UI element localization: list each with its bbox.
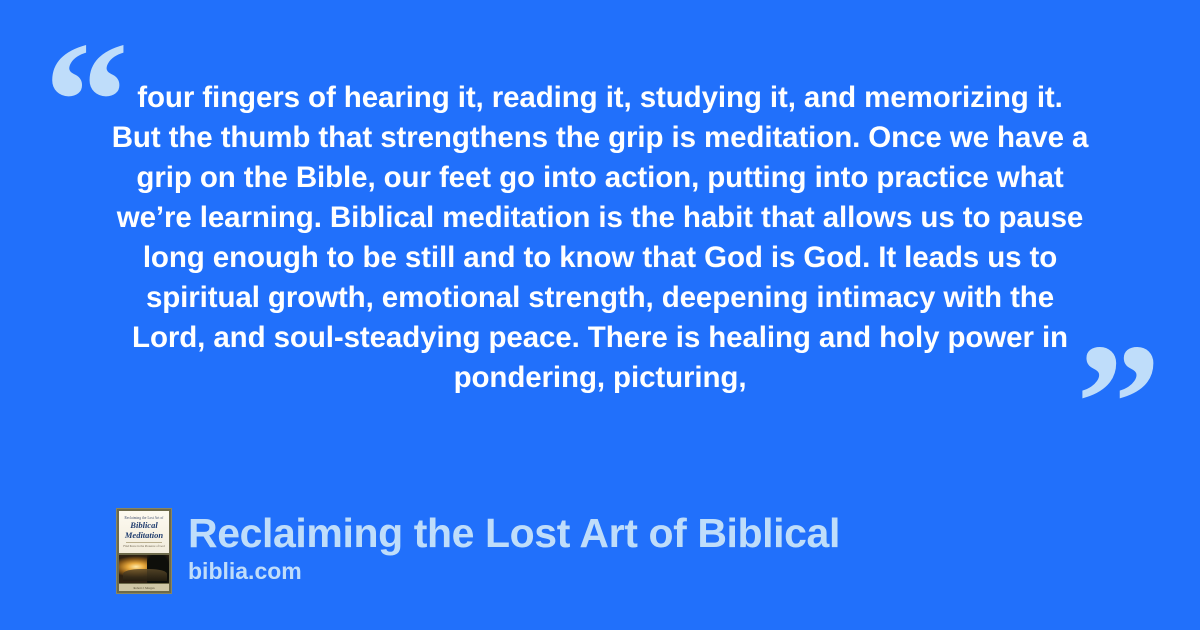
book-cover-author: Robert J. Morgan [133,586,154,590]
book-cover-kicker: Reclaiming the Lost Art of [125,515,164,520]
book-cover-footer: Robert J. Morgan [119,584,169,591]
quote-text: four fingers of hearing it, reading it, … [110,78,1090,398]
book-cover-top: Reclaiming the Lost Art of Biblical Medi… [119,511,169,553]
attribution-text: Reclaiming the Lost Art of Biblical bibl… [188,508,840,585]
book-cover-photo [119,555,169,583]
quote-card: “ four fingers of hearing it, reading it… [0,0,1200,630]
quote-body: four fingers of hearing it, reading it, … [110,78,1090,398]
book-cover-title-line-1: Biblical [130,521,157,530]
attribution[interactable]: Reclaiming the Lost Art of Biblical Medi… [116,508,840,594]
closing-quote-icon: ” [1076,318,1161,488]
site-name[interactable]: biblia.com [188,557,840,585]
book-cover-thumbnail[interactable]: Reclaiming the Lost Art of Biblical Medi… [116,508,172,594]
book-cover-divider [126,542,162,543]
book-cover-subtitle: Find Peace in the Presence of God [123,544,164,548]
book-cover-title-line-2: Meditation [125,531,163,540]
book-title[interactable]: Reclaiming the Lost Art of Biblical [188,510,840,556]
